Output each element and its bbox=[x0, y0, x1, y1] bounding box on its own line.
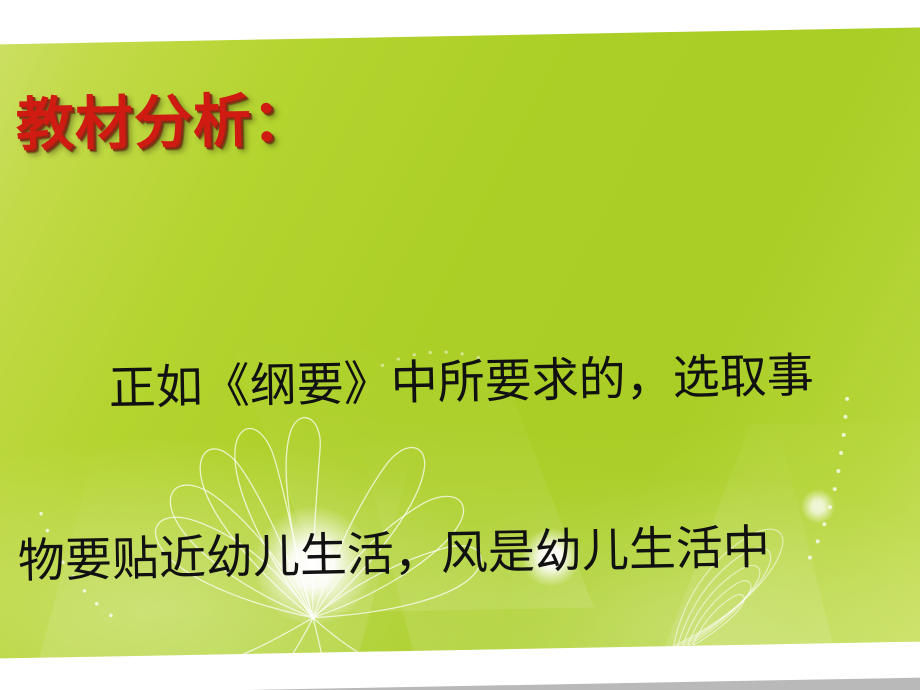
body-line-1: 正如《纲要》中所要求的，选取事 bbox=[14, 347, 905, 420]
slide-content: 教材分析： 正如《纲要》中所要求的，选取事 物要贴近幼儿生活，风是幼儿生活中 常… bbox=[0, 27, 920, 658]
slide-root: 教材分析： 正如《纲要》中所要求的，选取事 物要贴近幼儿生活，风是幼儿生活中 常… bbox=[0, 0, 920, 690]
slide-green-panel: 教材分析： 正如《纲要》中所要求的，选取事 物要贴近幼儿生活，风是幼儿生活中 常… bbox=[0, 27, 920, 658]
body-line-2: 物要贴近幼儿生活，风是幼儿生活中 bbox=[17, 518, 908, 591]
slide-body-text: 正如《纲要》中所要求的，选取事 物要贴近幼儿生活，风是幼儿生活中 常见的自然现象… bbox=[12, 233, 920, 659]
slide-title: 教材分析： bbox=[15, 91, 311, 154]
